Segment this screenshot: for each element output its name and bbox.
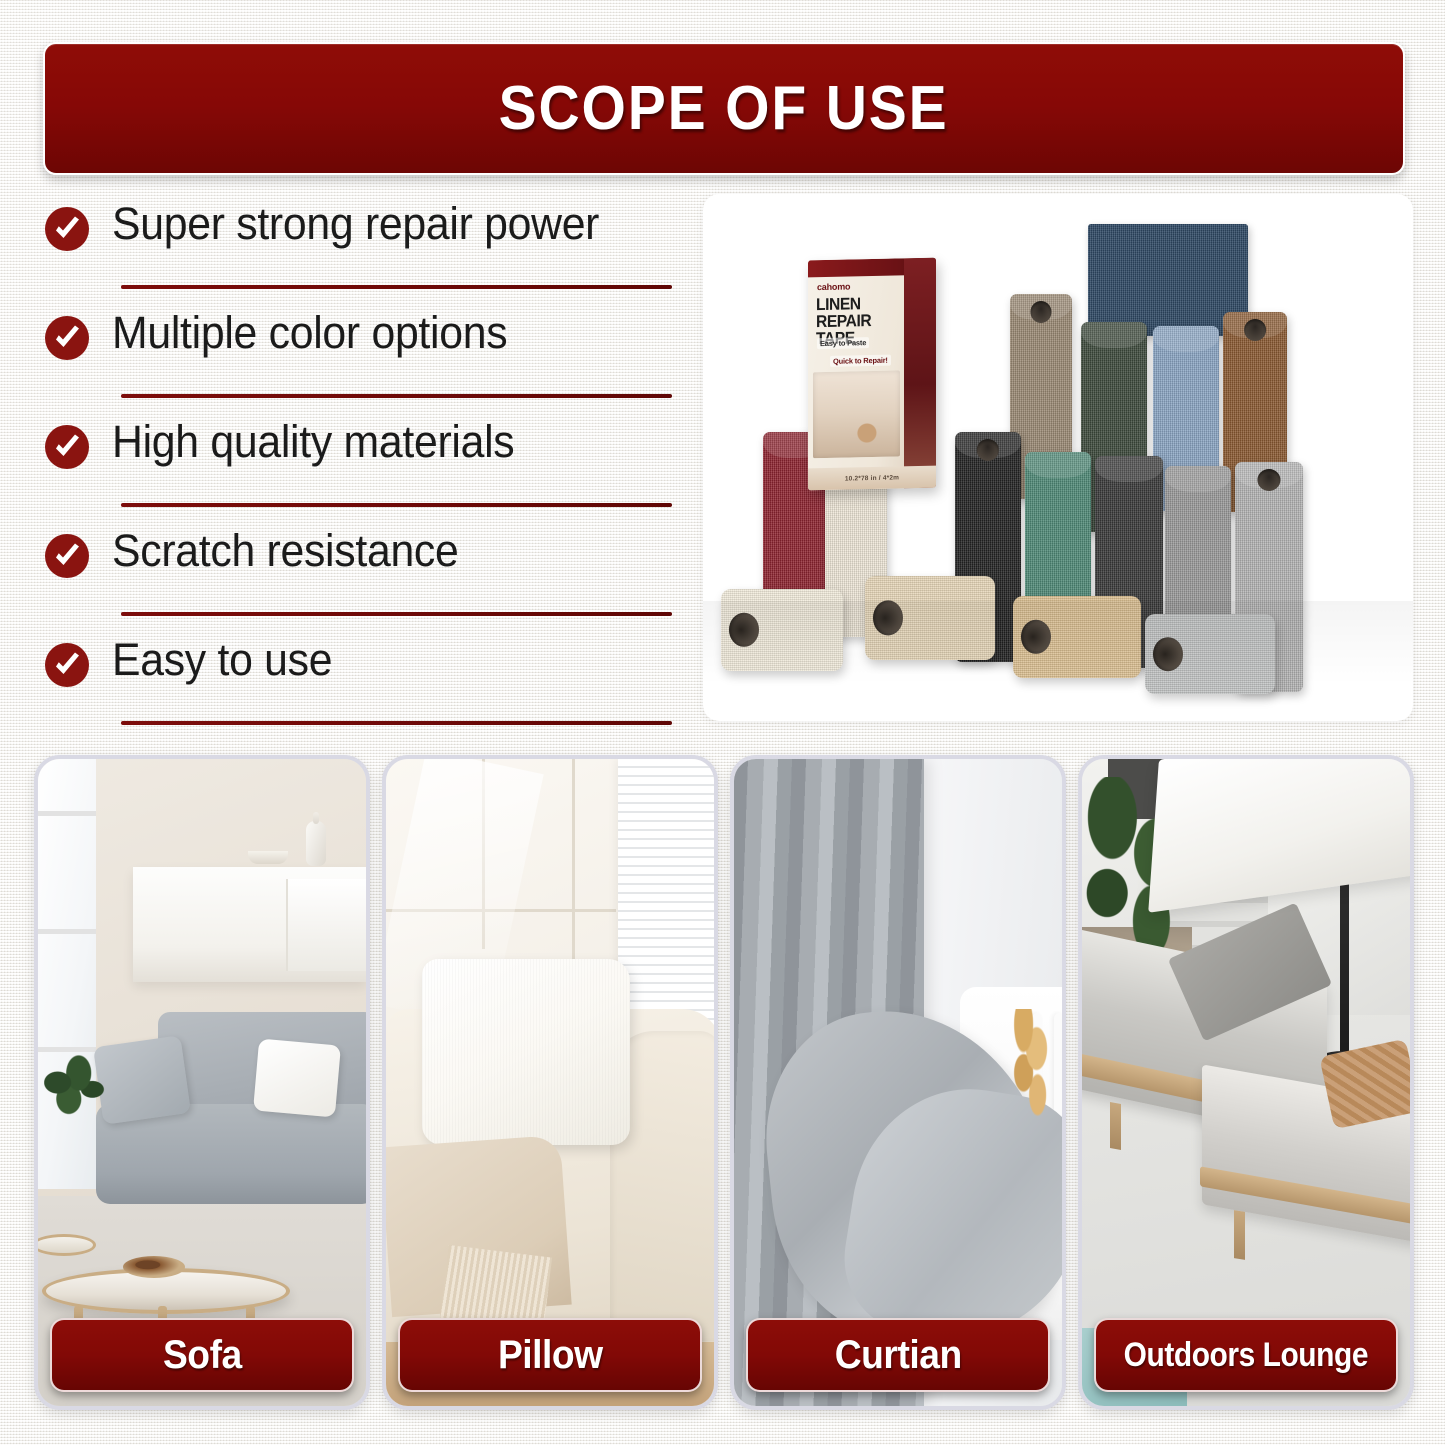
sofa-scene-image (38, 759, 366, 1406)
box-brand-logo: cahomo (817, 281, 850, 292)
feature-list: Super strong repair power Multiple color… (44, 196, 684, 741)
feature-item: Scratch resistance (44, 523, 684, 632)
panel-outdoors-lounge[interactable]: Outdoors Lounge (1078, 755, 1414, 1410)
box-photo-sofa-with-dog (813, 370, 900, 458)
product-floor-shadow (703, 601, 1413, 721)
panel-sofa[interactable]: Sofa (34, 755, 370, 1410)
feature-divider (121, 612, 672, 616)
box-footer: 10.2*78 in / 4*2m (808, 466, 936, 491)
panel-label-text: Pillow (498, 1333, 603, 1378)
feature-label: Scratch resistance (112, 523, 459, 579)
check-circle-icon (44, 424, 90, 470)
curtain-scene-image (734, 759, 1062, 1406)
panel-label-text: Curtian (835, 1333, 962, 1378)
check-circle-icon (44, 315, 90, 361)
page-title: SCOPE OF USE (499, 73, 949, 144)
check-circle-icon (44, 642, 90, 688)
check-circle-icon (44, 533, 90, 579)
product-box: cahomo LINEN REPAIR TAPE Easy to Paste Q… (808, 258, 936, 491)
panel-curtain[interactable]: Curtian (730, 755, 1066, 1410)
feature-divider (121, 394, 672, 398)
panel-label-text: Outdoors Lounge (1124, 1336, 1368, 1375)
box-badge-easy-to-paste: Easy to Paste (817, 337, 869, 349)
panel-label-sofa: Sofa (50, 1318, 354, 1392)
panel-pillow[interactable]: Pillow (382, 755, 718, 1410)
box-spine (904, 258, 936, 489)
product-photo-card: cahomo LINEN REPAIR TAPE Easy to Paste Q… (703, 194, 1413, 721)
feature-item: Multiple color options (44, 305, 684, 414)
feature-label: Super strong repair power (112, 196, 599, 252)
product-rolls-scene: cahomo LINEN REPAIR TAPE Easy to Paste Q… (703, 194, 1413, 721)
feature-divider (121, 721, 672, 725)
use-case-panels: Sofa Pillow (34, 755, 1414, 1410)
check-circle-icon (44, 206, 90, 252)
feature-divider (121, 503, 672, 507)
feature-item: Super strong repair power (44, 196, 684, 305)
panel-label-text: Sofa (163, 1333, 242, 1378)
panel-label-curtain: Curtian (746, 1318, 1050, 1392)
outdoors-lounge-scene-image (1082, 759, 1410, 1406)
panel-label-pillow: Pillow (398, 1318, 702, 1392)
feature-item: Easy to use (44, 632, 684, 741)
box-size-text: 10.2*78 in / 4*2m (845, 474, 899, 482)
feature-label: High quality materials (112, 414, 514, 470)
pillow-scene-image (386, 759, 714, 1406)
feature-divider (121, 285, 672, 289)
feature-item: High quality materials (44, 414, 684, 523)
feature-label: Multiple color options (112, 305, 507, 361)
feature-label: Easy to use (112, 632, 332, 688)
box-badge-quick-to-repair: Quick to Repair! (830, 355, 891, 367)
panel-label-outdoors-lounge: Outdoors Lounge (1094, 1318, 1398, 1392)
infographic-page: SCOPE OF USE Super strong repair power M… (0, 0, 1445, 1445)
scope-of-use-banner: SCOPE OF USE (43, 42, 1405, 175)
